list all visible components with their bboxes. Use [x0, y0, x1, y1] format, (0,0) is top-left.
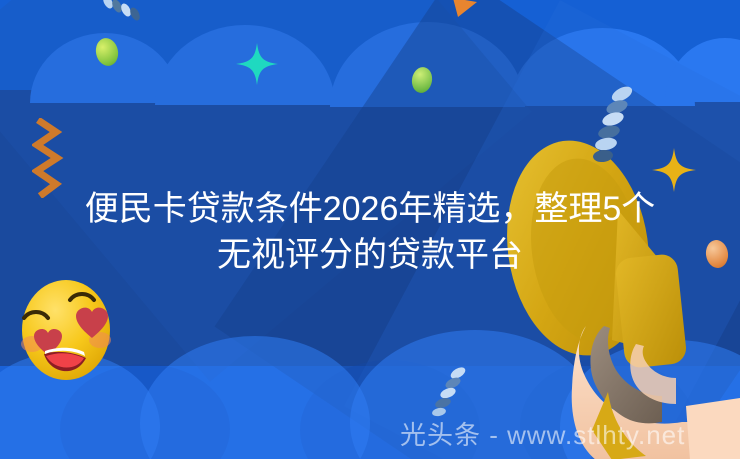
teal-sparkle-star-icon	[236, 43, 278, 85]
blue-spiral-streamer-icon	[430, 367, 472, 417]
page-title: 便民卡贷款条件2026年精选，整理5个 无视评分的贷款平台	[0, 186, 740, 278]
watermark-text: 光头条 - www.stlhty.net	[400, 420, 685, 450]
orange-triangle-confetti-icon	[452, 0, 478, 18]
megaphone-with-hand-icon	[500, 130, 740, 459]
poster-canvas: 便民卡贷款条件2026年精选，整理5个 无视评分的贷款平台 光头条 - www.…	[0, 0, 740, 459]
heart-eyes-emoji-icon	[14, 278, 118, 382]
blue-spiral-streamer-icon	[100, 0, 146, 28]
blue-spiral-streamer-icon	[588, 84, 636, 164]
